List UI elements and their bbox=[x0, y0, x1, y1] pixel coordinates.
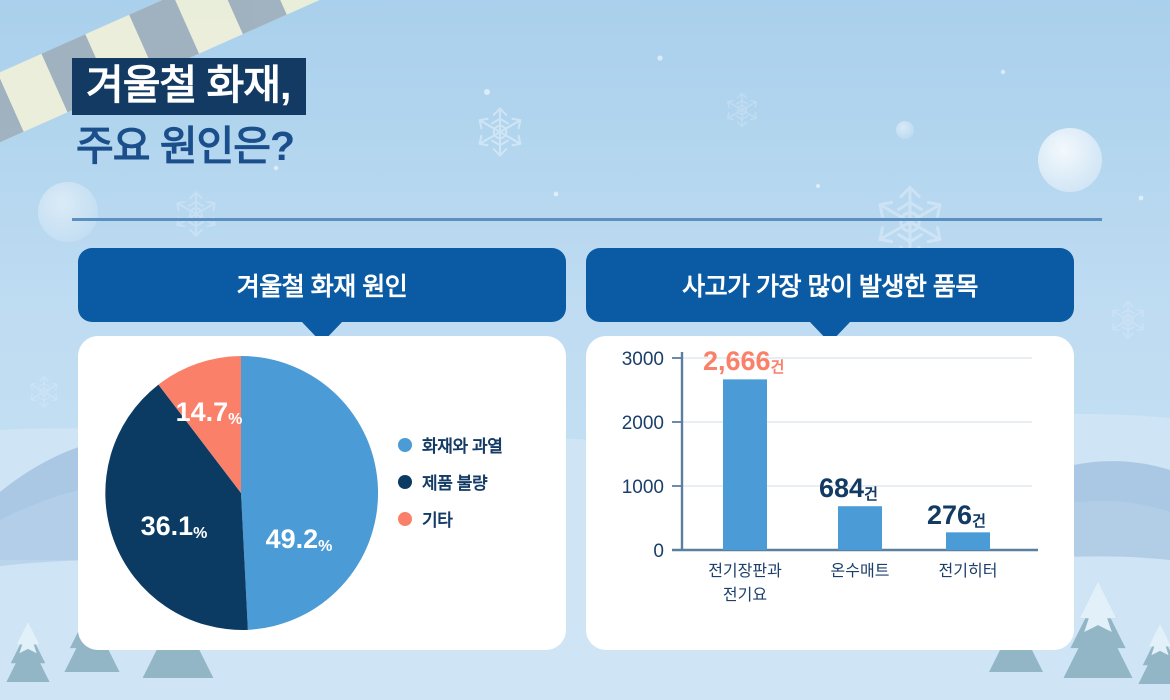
title-line-1: 겨울철 화재, bbox=[72, 58, 306, 115]
pie-label-0-symbol: % bbox=[318, 538, 332, 555]
x-tick-0-line-1: 전기장판과 bbox=[708, 562, 782, 580]
bar-2[interactable] bbox=[946, 532, 990, 550]
legend-item-0[interactable]: 화재와 과열 bbox=[398, 432, 503, 457]
x-tick-0-line-2: 전기요 bbox=[723, 586, 767, 604]
bar-unit-0: 건 bbox=[771, 359, 785, 376]
legend-item-2[interactable]: 기타 bbox=[398, 506, 503, 531]
pie-label-1-value: 36.1 bbox=[141, 511, 194, 541]
panel-fire-cause-header: 겨울철 화재 원인 bbox=[78, 248, 566, 322]
legend-dot-icon-0 bbox=[398, 438, 412, 452]
bar-value-label-1: 684건 bbox=[819, 473, 878, 503]
pie-chart: 49.2% 36.1% 14.7% bbox=[96, 348, 386, 638]
pie-label-1-symbol: % bbox=[193, 525, 207, 542]
bar-value-2: 276 bbox=[927, 500, 972, 530]
y-tick-2000: 2000 bbox=[622, 413, 664, 434]
bar-unit-1: 건 bbox=[864, 486, 878, 503]
legend-item-1[interactable]: 제품 불량 bbox=[398, 469, 503, 494]
panel-top-products-body: 3000 2000 1000 0 2,666건 684건 276건 bbox=[586, 336, 1074, 650]
page-title: 겨울철 화재, 주요 원인은? bbox=[72, 58, 306, 167]
bar-chart: 3000 2000 1000 0 2,666건 684건 276건 bbox=[586, 336, 1074, 650]
bar-value-1: 684 bbox=[819, 473, 864, 503]
pie-legend: 화재와 과열 제품 불량 기타 bbox=[398, 432, 503, 531]
pie-label-2-value: 14.7 bbox=[176, 397, 229, 427]
panel-fire-cause-title: 겨울철 화재 원인 bbox=[237, 267, 407, 303]
legend-label-0: 화재와 과열 bbox=[422, 432, 503, 457]
pie-label-2-symbol: % bbox=[228, 411, 242, 428]
bar-value-label-0: 2,666건 bbox=[703, 346, 784, 376]
panel-top-products: 사고가 가장 많이 발생한 품목 bbox=[586, 248, 1074, 650]
y-tick-0: 0 bbox=[653, 541, 664, 562]
legend-label-2: 기타 bbox=[422, 506, 452, 531]
pie-label-0-value: 49.2 bbox=[266, 524, 319, 554]
x-tick-2: 전기히터 bbox=[939, 562, 998, 580]
bar-0[interactable] bbox=[723, 379, 767, 550]
legend-dot-icon-1 bbox=[398, 475, 412, 489]
panel-fire-cause: 겨울철 화재 원인 49.2% 36.1% 14.7% bbox=[78, 248, 566, 650]
title-line-2: 주요 원인은? bbox=[72, 126, 306, 167]
bar-unit-2: 건 bbox=[972, 513, 986, 530]
bar-value-0: 2,666 bbox=[703, 346, 771, 376]
x-tick-1: 온수매트 bbox=[831, 562, 890, 580]
panel-top-products-title: 사고가 가장 많이 발생한 품목 bbox=[682, 267, 978, 303]
panel-fire-cause-body: 49.2% 36.1% 14.7% 화재와 과열 제품 불량 bbox=[78, 336, 566, 650]
y-tick-3000: 3000 bbox=[622, 349, 664, 370]
bar-1[interactable] bbox=[838, 506, 882, 550]
title-divider bbox=[72, 218, 1102, 221]
pie-slice-0 bbox=[241, 356, 378, 630]
legend-dot-icon-2 bbox=[398, 512, 412, 526]
legend-label-1: 제품 불량 bbox=[422, 469, 487, 494]
y-tick-1000: 1000 bbox=[622, 477, 664, 498]
bar-value-label-2: 276건 bbox=[927, 500, 986, 530]
panel-top-products-header: 사고가 가장 많이 발생한 품목 bbox=[586, 248, 1074, 322]
